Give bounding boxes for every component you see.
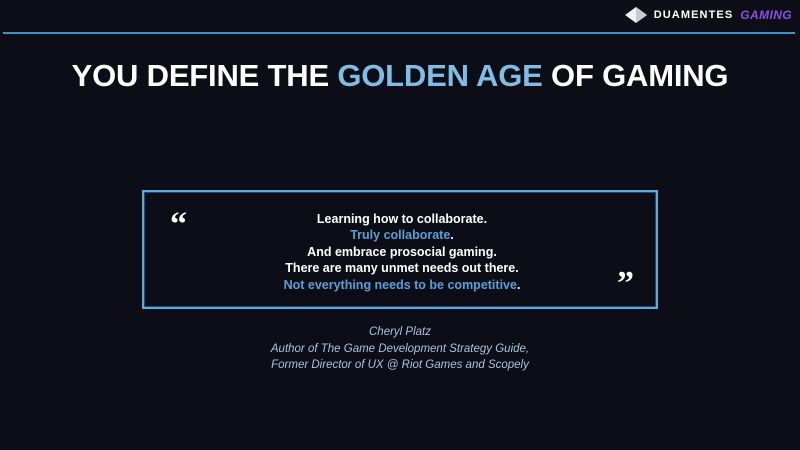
quote-line-text: Not everything needs to be competitive <box>284 278 517 292</box>
quote-line-text: Truly collaborate <box>350 228 450 242</box>
quote-attribution: Cheryl Platz Author of The Game Developm… <box>0 324 800 374</box>
slide-header-bar: DUAMENTES GAMING <box>0 0 800 32</box>
brand-logo: DUAMENTES GAMING <box>625 6 792 24</box>
brand-sub-text: GAMING <box>740 8 792 22</box>
quote-lines: Learning how to collaborate. Truly colla… <box>144 211 660 293</box>
quote-line-text: Learning how to collaborate. <box>317 212 487 226</box>
quote-line: Learning how to collaborate. <box>144 211 660 227</box>
title-part-1: YOU DEFINE THE <box>72 58 338 93</box>
quote-box: “ ” Learning how to collaborate. Truly c… <box>142 190 658 309</box>
presentation-slide: DUAMENTES GAMING YOU DEFINE THE GOLDEN A… <box>0 0 800 450</box>
quote-line: And embrace prosocial gaming. <box>144 244 660 260</box>
quote-line-period: . <box>517 278 520 292</box>
diamond-logo-icon <box>625 7 647 23</box>
title-part-2: OF GAMING <box>543 58 729 93</box>
attribution-role-2: Former Director of UX @ Riot Games and S… <box>0 357 800 374</box>
quote-line: There are many unmet needs out there. <box>144 260 660 276</box>
attribution-role-1: Author of The Game Development Strategy … <box>0 341 800 358</box>
quote-line: Truly collaborate. <box>144 227 660 243</box>
title-highlight: GOLDEN AGE <box>337 58 542 93</box>
quote-line: Not everything needs to be competitive. <box>144 277 660 293</box>
page-title: YOU DEFINE THE GOLDEN AGE OF GAMING <box>0 58 800 94</box>
attribution-name: Cheryl Platz <box>0 324 800 341</box>
quote-line-text: There are many unmet needs out there. <box>285 261 518 275</box>
quote-line-period: . <box>450 228 453 242</box>
brand-name-text: DUAMENTES <box>654 9 734 21</box>
quote-line-text: And embrace prosocial gaming. <box>307 245 497 259</box>
header-divider <box>3 32 795 34</box>
